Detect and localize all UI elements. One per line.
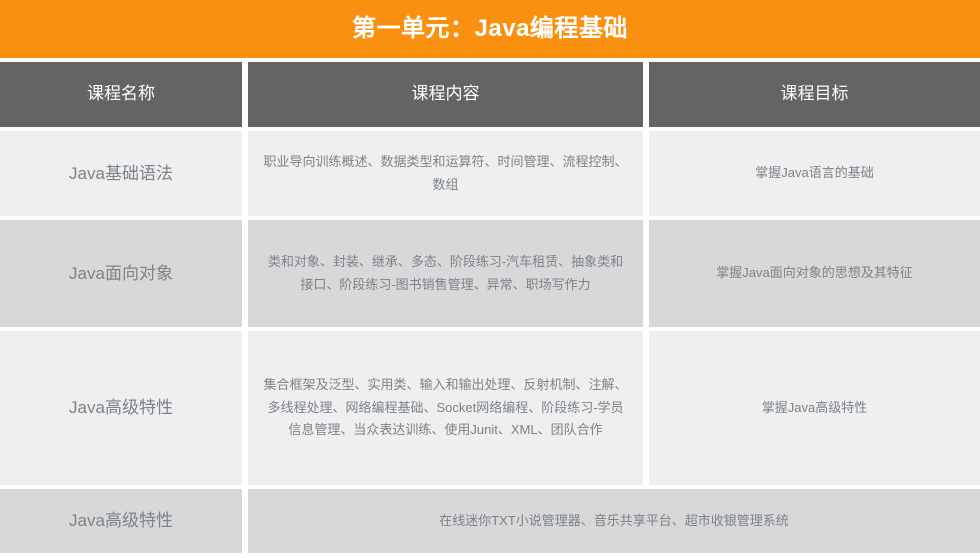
course-goal-label: 掌握Java面向对象的思想及其特征 <box>716 262 912 285</box>
course-content-label: 集合框架及泛型、实用类、输入和输出处理、反射机制、注解、多线程处理、网络编程基础… <box>262 374 629 442</box>
column-header-course-goal: 课程目标 <box>649 62 980 127</box>
column-header-label: 课程名称 <box>87 83 155 105</box>
table-row: Java高级特性 集合框架及泛型、实用类、输入和输出处理、反射机制、注解、多线程… <box>0 331 980 485</box>
cell-course-goal: 掌握Java语言的基础 <box>649 131 980 216</box>
column-header-label: 课程目标 <box>781 83 849 105</box>
table-header-row: 课程名称 课程内容 课程目标 <box>0 62 980 127</box>
cell-course-content: 集合框架及泛型、实用类、输入和输出处理、反射机制、注解、多线程处理、网络编程基础… <box>248 331 643 485</box>
unit-banner: 第一单元：Java编程基础 <box>0 0 980 58</box>
course-name-label: Java面向对象 <box>69 259 173 289</box>
cell-course-name: Java高级特性 <box>0 489 242 553</box>
table-row: Java面向对象 类和对象、封装、继承、多态、阶段练习-汽车租赁、抽象类和接口、… <box>0 220 980 327</box>
cell-course-content-merged: 在线迷你TXT小说管理器、音乐共享平台、超市收银管理系统 <box>248 489 980 553</box>
column-header-course-name: 课程名称 <box>0 62 242 127</box>
course-unit-table: 第一单元：Java编程基础 课程名称 课程内容 课程目标 Java基础语法 职业… <box>0 0 980 558</box>
column-header-label: 课程内容 <box>412 83 480 105</box>
cell-course-content: 类和对象、封装、继承、多态、阶段练习-汽车租赁、抽象类和接口、阶段练习-图书销售… <box>248 220 643 327</box>
table-row: Java高级特性 在线迷你TXT小说管理器、音乐共享平台、超市收银管理系统 <box>0 489 980 553</box>
course-name-label: Java高级特性 <box>69 506 173 536</box>
course-content-label: 在线迷你TXT小说管理器、音乐共享平台、超市收银管理系统 <box>439 510 789 533</box>
cell-course-content: 职业导向训练概述、数据类型和运算符、时间管理、流程控制、数组 <box>248 131 643 216</box>
curriculum-table: 课程名称 课程内容 课程目标 Java基础语法 职业导向训练概述、数据类型和运算… <box>0 62 980 557</box>
cell-course-name: Java基础语法 <box>0 131 242 216</box>
course-goal-label: 掌握Java语言的基础 <box>755 162 873 185</box>
course-content-label: 职业导向训练概述、数据类型和运算符、时间管理、流程控制、数组 <box>262 151 629 197</box>
column-header-course-content: 课程内容 <box>248 62 643 127</box>
course-goal-label: 掌握Java高级特性 <box>762 397 867 420</box>
table-row: Java基础语法 职业导向训练概述、数据类型和运算符、时间管理、流程控制、数组 … <box>0 131 980 216</box>
cell-course-name: Java面向对象 <box>0 220 242 327</box>
course-name-label: Java基础语法 <box>69 159 173 189</box>
page-title: 第一单元：Java编程基础 <box>352 17 628 41</box>
cell-course-goal: 掌握Java面向对象的思想及其特征 <box>649 220 980 327</box>
course-name-label: Java高级特性 <box>69 393 173 423</box>
cell-course-goal: 掌握Java高级特性 <box>649 331 980 485</box>
cell-course-name: Java高级特性 <box>0 331 242 485</box>
course-content-label: 类和对象、封装、继承、多态、阶段练习-汽车租赁、抽象类和接口、阶段练习-图书销售… <box>262 251 629 297</box>
